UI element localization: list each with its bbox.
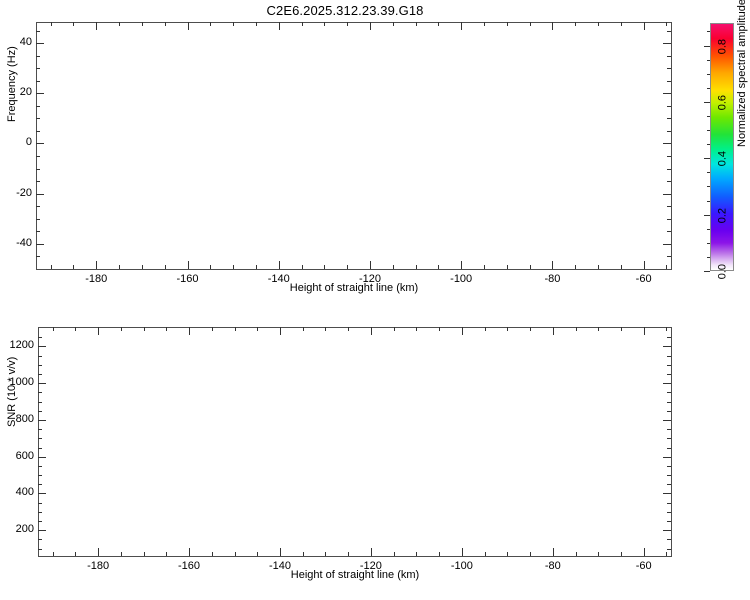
colorbar-ticklabel: 0.0 xyxy=(716,264,728,279)
spectrogram-y-tick xyxy=(36,143,44,144)
colorbar-minor-tick xyxy=(707,116,710,117)
colorbar-minor-tick xyxy=(707,243,710,244)
snr-x-minor-tick xyxy=(530,327,531,331)
snr-y-tick xyxy=(663,493,671,494)
spectrogram-x-minor-tick xyxy=(210,22,211,26)
spectrogram-y-tick xyxy=(36,244,44,245)
snr-panel: -180-160-140-120-100-80-6020040060080010… xyxy=(38,327,672,557)
snr-y-minor-tick xyxy=(667,475,671,476)
colorbar-minor-tick xyxy=(707,186,710,187)
snr-y-minor-tick xyxy=(38,539,42,540)
snr-x-minor-tick xyxy=(325,327,326,331)
spectrogram-y-tick xyxy=(663,194,671,195)
snr-y-minor-tick xyxy=(667,448,671,449)
spectrogram-y-minor-tick xyxy=(36,206,40,207)
snr-x-tick xyxy=(553,327,554,335)
snr-x-tick xyxy=(280,548,281,556)
spectrogram-x-minor-tick xyxy=(347,22,348,26)
snr-y-minor-tick xyxy=(38,429,42,430)
colorbar-minor-tick xyxy=(707,257,710,258)
spectrogram-y-minor-tick xyxy=(667,181,671,182)
snr-y-tick xyxy=(663,530,671,531)
colorbar-gradient xyxy=(710,23,734,271)
snr-x-minor-tick xyxy=(394,327,395,331)
spectrogram-x-tick xyxy=(96,261,97,269)
snr-x-minor-tick xyxy=(75,552,76,556)
snr-x-minor-tick xyxy=(144,552,145,556)
spectrogram-x-minor-tick xyxy=(302,265,303,269)
snr-x-minor-tick xyxy=(439,327,440,331)
spectrogram-panel: -180-160-140-120-100-80-60-40-2002040 Fr… xyxy=(36,22,672,270)
snr-x-minor-tick xyxy=(53,552,54,556)
snr-y-tick xyxy=(38,530,46,531)
snr-x-tick xyxy=(371,327,372,335)
spectrogram-x-axis-label: Height of straight line (km) xyxy=(36,282,672,294)
spectrogram-x-minor-tick xyxy=(73,22,74,26)
spectrogram-x-minor-tick xyxy=(484,265,485,269)
spectrogram-y-minor-tick xyxy=(36,68,40,69)
spectrogram-x-minor-tick xyxy=(575,22,576,26)
spectrogram-x-tick xyxy=(461,261,462,269)
snr-y-minor-tick xyxy=(667,337,671,338)
snr-x-tick xyxy=(98,548,99,556)
snr-y-minor-tick xyxy=(667,356,671,357)
snr-x-minor-tick xyxy=(166,327,167,331)
snr-y-tick xyxy=(663,346,671,347)
snr-y-minor-tick xyxy=(667,503,671,504)
spectrogram-x-tick xyxy=(188,22,189,30)
snr-y-ticklabel: 400 xyxy=(6,486,34,498)
spectrogram-x-minor-tick xyxy=(666,22,667,26)
snr-y-tick xyxy=(38,493,46,494)
snr-y-minor-tick xyxy=(667,438,671,439)
spectrogram-x-minor-tick xyxy=(51,22,52,26)
spectrogram-x-minor-tick xyxy=(347,265,348,269)
spectrogram-y-minor-tick xyxy=(36,219,40,220)
snr-x-tick xyxy=(280,327,281,335)
snr-y-minor-tick xyxy=(38,374,42,375)
snr-y-ticklabel: 1200 xyxy=(6,339,34,351)
snr-y-minor-tick xyxy=(38,438,42,439)
spectrogram-y-tick xyxy=(36,93,44,94)
snr-x-tick xyxy=(462,327,463,335)
snr-x-minor-tick xyxy=(166,552,167,556)
spectrogram-y-tick xyxy=(663,244,671,245)
spectrogram-x-minor-tick xyxy=(416,265,417,269)
spectrogram-y-minor-tick xyxy=(667,106,671,107)
spectrogram-x-minor-tick xyxy=(256,265,257,269)
snr-y-minor-tick xyxy=(667,411,671,412)
colorbar-tick xyxy=(704,46,710,47)
snr-y-minor-tick xyxy=(38,466,42,467)
spectrogram-x-minor-tick xyxy=(438,265,439,269)
page-title: C2E6.2025.312.23.39.G18 xyxy=(0,3,690,18)
snr-y-minor-tick xyxy=(38,484,42,485)
snr-y-minor-tick xyxy=(667,484,671,485)
snr-x-minor-tick xyxy=(235,327,236,331)
colorbar-tick xyxy=(704,102,710,103)
spectrogram-y-minor-tick xyxy=(36,256,40,257)
snr-x-minor-tick xyxy=(576,552,577,556)
snr-y-minor-tick xyxy=(38,549,42,550)
snr-y-minor-tick xyxy=(38,411,42,412)
snr-x-minor-tick xyxy=(394,552,395,556)
spectrogram-x-tick xyxy=(644,261,645,269)
snr-x-minor-tick xyxy=(121,552,122,556)
snr-y-minor-tick xyxy=(667,512,671,513)
colorbar-minor-tick xyxy=(707,74,710,75)
colorbar-minor-tick xyxy=(707,172,710,173)
spectrogram-x-minor-tick xyxy=(119,265,120,269)
spectrogram-x-minor-tick xyxy=(233,265,234,269)
snr-x-minor-tick xyxy=(576,327,577,331)
spectrogram-x-minor-tick xyxy=(598,22,599,26)
spectrogram-y-minor-tick xyxy=(667,169,671,170)
spectrogram-x-minor-tick xyxy=(530,265,531,269)
snr-x-minor-tick xyxy=(666,327,667,331)
spectrogram-x-tick xyxy=(370,261,371,269)
spectrogram-x-tick xyxy=(188,261,189,269)
snr-y-minor-tick xyxy=(38,512,42,513)
spectrogram-y-ticklabel: 0 xyxy=(10,136,32,148)
spectrogram-y-tick xyxy=(36,43,44,44)
snr-y-minor-tick xyxy=(38,521,42,522)
spectrogram-y-minor-tick xyxy=(36,106,40,107)
colorbar-minor-tick xyxy=(707,144,710,145)
spectrogram-x-minor-tick xyxy=(575,265,576,269)
snr-y-minor-tick xyxy=(38,448,42,449)
snr-x-minor-tick xyxy=(212,327,213,331)
snr-y-tick xyxy=(38,420,46,421)
snr-y-minor-tick xyxy=(38,365,42,366)
snr-x-minor-tick xyxy=(598,552,599,556)
spectrogram-y-minor-tick xyxy=(667,56,671,57)
snr-y-minor-tick xyxy=(38,475,42,476)
snr-y-minor-tick xyxy=(667,429,671,430)
spectrogram-x-minor-tick xyxy=(324,22,325,26)
colorbar-minor-tick xyxy=(707,201,710,202)
snr-y-tick xyxy=(38,457,46,458)
snr-y-minor-tick xyxy=(667,539,671,540)
spectrogram-x-minor-tick xyxy=(666,265,667,269)
snr-x-minor-tick xyxy=(485,552,486,556)
spectrogram-x-minor-tick xyxy=(324,265,325,269)
snr-x-minor-tick xyxy=(439,552,440,556)
colorbar-ticklabel: 0.4 xyxy=(716,151,728,166)
spectrogram-y-tick xyxy=(663,143,671,144)
snr-y-minor-tick xyxy=(38,503,42,504)
snr-y-tick xyxy=(663,383,671,384)
snr-x-minor-tick xyxy=(212,552,213,556)
snr-x-minor-tick xyxy=(507,552,508,556)
spectrogram-y-minor-tick xyxy=(667,81,671,82)
spectrogram-x-tick xyxy=(279,22,280,30)
spectrogram-y-minor-tick xyxy=(667,156,671,157)
snr-y-minor-tick xyxy=(667,365,671,366)
snr-x-tick xyxy=(462,548,463,556)
spectrogram-x-tick xyxy=(552,22,553,30)
colorbar-minor-tick xyxy=(707,130,710,131)
spectrogram-x-minor-tick xyxy=(621,265,622,269)
spectrogram-x-minor-tick xyxy=(142,22,143,26)
spectrogram-y-axis-label: Frequency (Hz) xyxy=(6,46,18,122)
snr-y-ticklabel: 600 xyxy=(6,450,34,462)
spectrogram-y-minor-tick xyxy=(667,31,671,32)
spectrogram-x-minor-tick xyxy=(438,22,439,26)
spectrogram-x-minor-tick xyxy=(598,265,599,269)
spectrogram-x-minor-tick xyxy=(233,22,234,26)
spectrogram-x-tick xyxy=(279,261,280,269)
snr-x-tick xyxy=(644,327,645,335)
snr-y-minor-tick xyxy=(38,402,42,403)
snr-x-minor-tick xyxy=(666,552,667,556)
snr-x-minor-tick xyxy=(416,552,417,556)
snr-x-minor-tick xyxy=(530,552,531,556)
snr-x-minor-tick xyxy=(325,552,326,556)
spectrogram-x-tick xyxy=(552,261,553,269)
colorbar-tick xyxy=(704,158,710,159)
spectrogram-y-tick xyxy=(36,194,44,195)
snr-x-minor-tick xyxy=(485,327,486,331)
spectrogram-x-minor-tick xyxy=(393,22,394,26)
spectrogram-y-minor-tick xyxy=(36,31,40,32)
spectrogram-y-minor-tick xyxy=(36,81,40,82)
snr-x-minor-tick xyxy=(348,552,349,556)
snr-x-minor-tick xyxy=(144,327,145,331)
snr-axes-frame xyxy=(38,327,672,557)
spectrogram-y-ticklabel: -40 xyxy=(10,237,32,249)
spectrogram-x-minor-tick xyxy=(142,265,143,269)
spectrogram-y-tick xyxy=(663,43,671,44)
snr-y-minor-tick xyxy=(667,466,671,467)
snr-y-minor-tick xyxy=(667,521,671,522)
spectrogram-y-minor-tick xyxy=(667,231,671,232)
spectrogram-x-minor-tick xyxy=(302,22,303,26)
snr-x-minor-tick xyxy=(507,327,508,331)
spectrogram-x-tick xyxy=(370,22,371,30)
snr-y-minor-tick xyxy=(667,402,671,403)
spectrogram-y-minor-tick xyxy=(667,118,671,119)
spectrogram-y-minor-tick xyxy=(36,56,40,57)
snr-x-minor-tick xyxy=(303,327,304,331)
snr-x-tick xyxy=(371,548,372,556)
colorbar-minor-tick xyxy=(707,88,710,89)
spectrogram-x-minor-tick xyxy=(73,265,74,269)
snr-y-minor-tick xyxy=(38,392,42,393)
snr-y-axis-label: SNR (10 * v/v) xyxy=(6,357,18,427)
spectrogram-y-minor-tick xyxy=(36,156,40,157)
colorbar-minor-tick xyxy=(707,60,710,61)
spectrogram-y-ticklabel: -20 xyxy=(10,187,32,199)
spectrogram-axes-frame xyxy=(36,22,672,270)
colorbar-ticklabel: 0.6 xyxy=(716,95,728,110)
snr-x-minor-tick xyxy=(121,327,122,331)
snr-x-tick xyxy=(189,548,190,556)
snr-x-tick xyxy=(98,327,99,335)
colorbar-tick xyxy=(704,271,710,272)
colorbar-tick xyxy=(704,215,710,216)
spectrogram-x-minor-tick xyxy=(119,22,120,26)
spectrogram-x-minor-tick xyxy=(210,265,211,269)
spectrogram-y-minor-tick xyxy=(36,118,40,119)
snr-x-tick xyxy=(553,548,554,556)
colorbar-minor-tick xyxy=(707,229,710,230)
snr-x-minor-tick xyxy=(348,327,349,331)
spectrogram-x-tick xyxy=(96,22,97,30)
spectrogram-y-minor-tick xyxy=(36,181,40,182)
snr-x-minor-tick xyxy=(75,327,76,331)
spectrogram-x-minor-tick xyxy=(621,22,622,26)
snr-x-minor-tick xyxy=(598,327,599,331)
spectrogram-x-minor-tick xyxy=(507,22,508,26)
snr-x-minor-tick xyxy=(235,552,236,556)
snr-x-tick xyxy=(644,548,645,556)
spectrogram-x-minor-tick xyxy=(393,265,394,269)
snr-x-minor-tick xyxy=(416,327,417,331)
spectrogram-y-minor-tick xyxy=(667,206,671,207)
snr-x-minor-tick xyxy=(257,327,258,331)
colorbar-label: Normalized spectral amplitude xyxy=(736,0,748,147)
spectrogram-x-minor-tick xyxy=(484,22,485,26)
snr-y-minor-tick xyxy=(667,374,671,375)
spectrogram-y-tick xyxy=(663,93,671,94)
snr-x-minor-tick xyxy=(621,552,622,556)
colorbar-ticklabel: 0.2 xyxy=(716,208,728,223)
snr-y-minor-tick xyxy=(38,356,42,357)
snr-y-tick xyxy=(663,420,671,421)
snr-y-tick xyxy=(38,383,46,384)
spectrogram-y-minor-tick xyxy=(667,68,671,69)
spectrogram-y-minor-tick xyxy=(667,131,671,132)
snr-x-minor-tick xyxy=(621,327,622,331)
snr-x-minor-tick xyxy=(303,552,304,556)
spectrogram-x-minor-tick xyxy=(507,265,508,269)
spectrogram-x-minor-tick xyxy=(256,22,257,26)
snr-y-tick xyxy=(663,457,671,458)
snr-x-axis-label: Height of straight line (km) xyxy=(38,569,672,581)
colorbar-ticklabel: 0.8 xyxy=(716,39,728,54)
spectrogram-y-minor-tick xyxy=(36,231,40,232)
spectrogram-x-minor-tick xyxy=(416,22,417,26)
snr-y-minor-tick xyxy=(667,392,671,393)
spectrogram-x-tick xyxy=(461,22,462,30)
snr-y-ticklabel: 200 xyxy=(6,523,34,535)
spectrogram-y-minor-tick xyxy=(667,219,671,220)
spectrogram-x-minor-tick xyxy=(165,265,166,269)
colorbar-minor-tick xyxy=(707,31,710,32)
spectrogram-y-minor-tick xyxy=(667,256,671,257)
snr-y-tick xyxy=(38,346,46,347)
snr-y-minor-tick xyxy=(38,337,42,338)
spectrogram-x-minor-tick xyxy=(530,22,531,26)
spectrogram-x-minor-tick xyxy=(51,265,52,269)
spectrogram-y-minor-tick xyxy=(36,169,40,170)
snr-x-minor-tick xyxy=(53,327,54,331)
snr-x-minor-tick xyxy=(257,552,258,556)
spectrogram-x-minor-tick xyxy=(165,22,166,26)
snr-x-tick xyxy=(189,327,190,335)
snr-y-minor-tick xyxy=(667,549,671,550)
spectrogram-x-tick xyxy=(644,22,645,30)
colorbar-panel: 0.00.20.40.60.8 Normalized spectral ampl… xyxy=(710,23,734,271)
spectrogram-y-minor-tick xyxy=(36,131,40,132)
